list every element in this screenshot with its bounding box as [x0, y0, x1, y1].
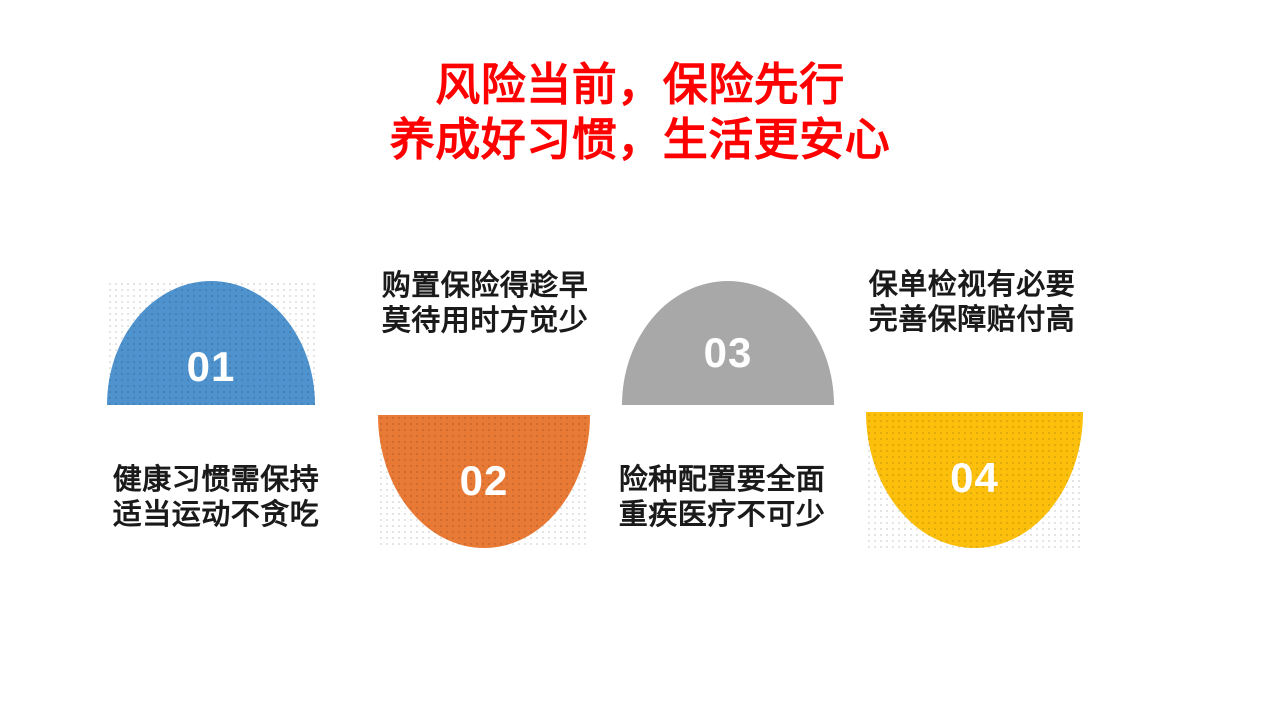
semicircle-shape-04[interactable]: 04: [866, 412, 1083, 548]
title-line-1: 风险当前，保险先行: [0, 58, 1280, 113]
semicircle-shape-03[interactable]: 03: [622, 281, 834, 405]
caption-02-line-1: 购置保险得趁早: [365, 269, 605, 304]
caption-04-line-2: 完善保障赔付高: [852, 303, 1092, 338]
slide-title: 风险当前，保险先行 养成好习惯，生活更安心: [0, 58, 1280, 168]
shape-number-04: 04: [866, 454, 1083, 502]
shape-number-01: 01: [107, 343, 315, 391]
caption-04: 保单检视有必要 完善保障赔付高: [852, 268, 1092, 339]
shape-number-02: 02: [378, 457, 590, 505]
caption-01: 健康习惯需保持 适当运动不贪吃: [93, 463, 339, 534]
caption-01-line-2: 适当运动不贪吃: [93, 498, 339, 533]
caption-02: 购置保险得趁早 莫待用时方觉少: [365, 269, 605, 340]
title-line-2: 养成好习惯，生活更安心: [0, 113, 1280, 168]
caption-03-line-2: 重疾医疗不可少: [600, 498, 844, 533]
caption-04-line-1: 保单检视有必要: [852, 268, 1092, 303]
caption-03-line-1: 险种配置要全面: [600, 463, 844, 498]
semicircle-shape-01[interactable]: 01: [107, 281, 315, 405]
shape-number-03: 03: [622, 329, 834, 377]
slide-canvas: 风险当前，保险先行 养成好习惯，生活更安心 01 健康习惯需保持 适当运动不贪吃…: [0, 0, 1280, 720]
semicircle-shape-02[interactable]: 02: [378, 415, 590, 548]
caption-02-line-2: 莫待用时方觉少: [365, 304, 605, 339]
caption-03: 险种配置要全面 重疾医疗不可少: [600, 463, 844, 534]
caption-01-line-1: 健康习惯需保持: [93, 463, 339, 498]
